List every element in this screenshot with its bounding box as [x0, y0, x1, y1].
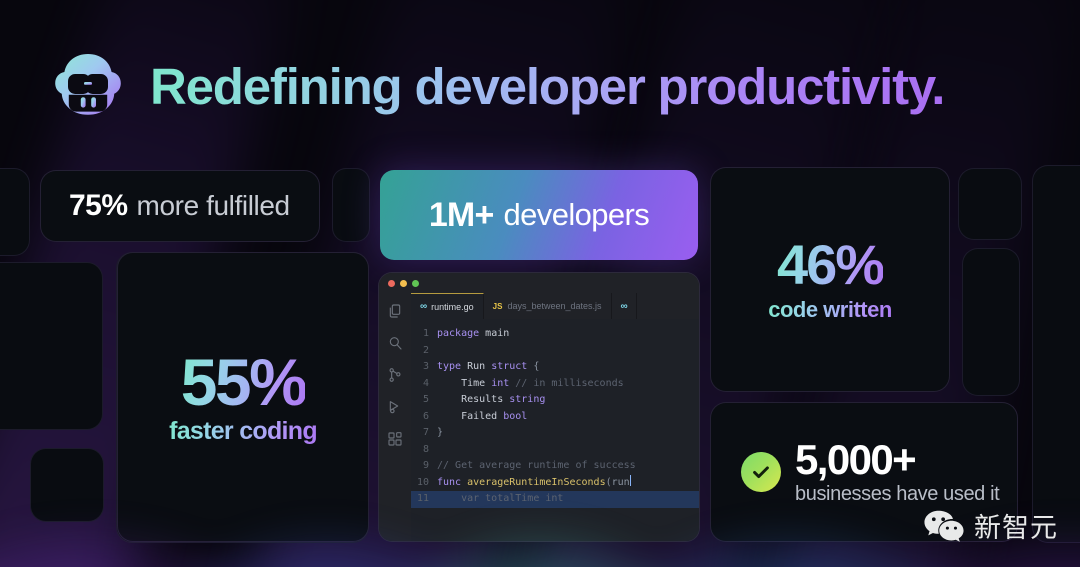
decorative-card — [332, 168, 370, 242]
line-number: 8 — [411, 442, 437, 459]
explorer-icon[interactable] — [387, 303, 403, 319]
watermark-text: 新智元 — [974, 506, 1058, 545]
tab-label: days_between_dates.js — [507, 301, 601, 311]
code-text — [437, 442, 699, 459]
code-line: 6 Failed bool — [411, 409, 699, 426]
page-title: Redefining developer productivity. — [150, 57, 944, 116]
watermark: 新智元 — [923, 506, 1058, 545]
stat-value-faster-coding: 55% — [181, 349, 306, 415]
go-icon: ∞ — [420, 301, 426, 312]
code-text: Results string — [437, 392, 699, 409]
editor-tabstrip: ∞ runtime.go JS days_between_dates.js ∞ — [411, 293, 699, 319]
maximize-icon[interactable] — [412, 280, 419, 287]
search-icon[interactable] — [387, 335, 403, 351]
line-number: 1 — [411, 326, 437, 343]
decorative-card — [958, 168, 1022, 240]
decorative-card — [962, 248, 1020, 396]
promo-graphic: Redefining developer productivity. 75% m… — [0, 0, 1080, 567]
go-icon: ∞ — [621, 301, 627, 312]
code-line: 5 Results string — [411, 392, 699, 409]
code-text: var totalTime int — [437, 491, 699, 508]
extensions-icon[interactable] — [387, 431, 403, 447]
tab-label: runtime.go — [431, 302, 474, 312]
code-text: } — [437, 425, 699, 442]
line-number: 11 — [411, 491, 437, 508]
minimize-icon[interactable] — [400, 280, 407, 287]
stat-card-faster-coding: 55% faster coding — [117, 252, 369, 542]
code-text: func averageRuntimeInSeconds(run — [437, 475, 699, 492]
header: Redefining developer productivity. — [48, 46, 944, 126]
decorative-card — [1032, 165, 1080, 543]
stat-label-businesses: businesses have used it — [795, 483, 999, 506]
line-number: 6 — [411, 409, 437, 426]
line-number: 9 — [411, 458, 437, 475]
code-line: 4 Time int // in milliseconds — [411, 376, 699, 393]
close-icon[interactable] — [388, 280, 395, 287]
decorative-card — [0, 262, 103, 430]
line-number: 2 — [411, 343, 437, 360]
code-area[interactable]: 1package main23type Run struct {4 Time i… — [411, 319, 699, 541]
stat-value-code-written: 46% — [777, 236, 883, 295]
stat-value-fulfilled: 75% — [69, 189, 128, 223]
window-titlebar — [379, 273, 699, 293]
run-debug-icon[interactable] — [387, 399, 403, 415]
code-line: 7} — [411, 425, 699, 442]
stat-label-developers: developers — [504, 197, 650, 233]
code-line: 2 — [411, 343, 699, 360]
js-icon: JS — [493, 302, 503, 311]
decorative-card — [0, 168, 30, 256]
code-line: 3type Run struct { — [411, 359, 699, 376]
wechat-icon — [923, 509, 965, 543]
decorative-card — [30, 448, 104, 522]
stat-card-fulfilled: 75% more fulfilled — [40, 170, 320, 242]
code-line: 8 — [411, 442, 699, 459]
check-icon — [741, 452, 781, 492]
line-number: 10 — [411, 475, 437, 492]
code-line: 1package main — [411, 326, 699, 343]
github-copilot-logo — [48, 46, 128, 126]
code-line: 9// Get average runtime of success — [411, 458, 699, 475]
code-text: package main — [437, 326, 699, 343]
text-cursor — [630, 475, 631, 486]
line-number: 5 — [411, 392, 437, 409]
code-line: 10func averageRuntimeInSeconds(run — [411, 475, 699, 492]
stat-label-faster-coding: faster coding — [169, 417, 317, 446]
code-text: // Get average runtime of success — [437, 458, 699, 475]
stat-card-code-written: 46% code written — [710, 167, 950, 392]
tab-runtime-go[interactable]: ∞ runtime.go — [411, 293, 484, 319]
code-editor-window[interactable]: ∞ runtime.go JS days_between_dates.js ∞ … — [378, 272, 700, 542]
source-control-icon[interactable] — [387, 367, 403, 383]
code-text: type Run struct { — [437, 359, 699, 376]
code-line: 11 var totalTime int — [411, 491, 699, 508]
activity-bar — [379, 293, 411, 541]
stat-card-developers: 1M+ developers — [380, 170, 698, 260]
stat-label-code-written: code written — [768, 297, 892, 323]
tab-days-between-dates-js[interactable]: JS days_between_dates.js — [484, 293, 612, 319]
line-number: 3 — [411, 359, 437, 376]
code-text: Time int // in milliseconds — [437, 376, 699, 393]
stat-value-developers: 1M+ — [429, 196, 494, 235]
code-text: Failed bool — [437, 409, 699, 426]
code-text — [437, 343, 699, 360]
stat-label-fulfilled: more fulfilled — [137, 190, 290, 222]
stat-value-businesses: 5,000+ — [795, 438, 999, 482]
line-number: 4 — [411, 376, 437, 393]
line-number: 7 — [411, 425, 437, 442]
tab-overflow[interactable]: ∞ — [612, 293, 637, 319]
